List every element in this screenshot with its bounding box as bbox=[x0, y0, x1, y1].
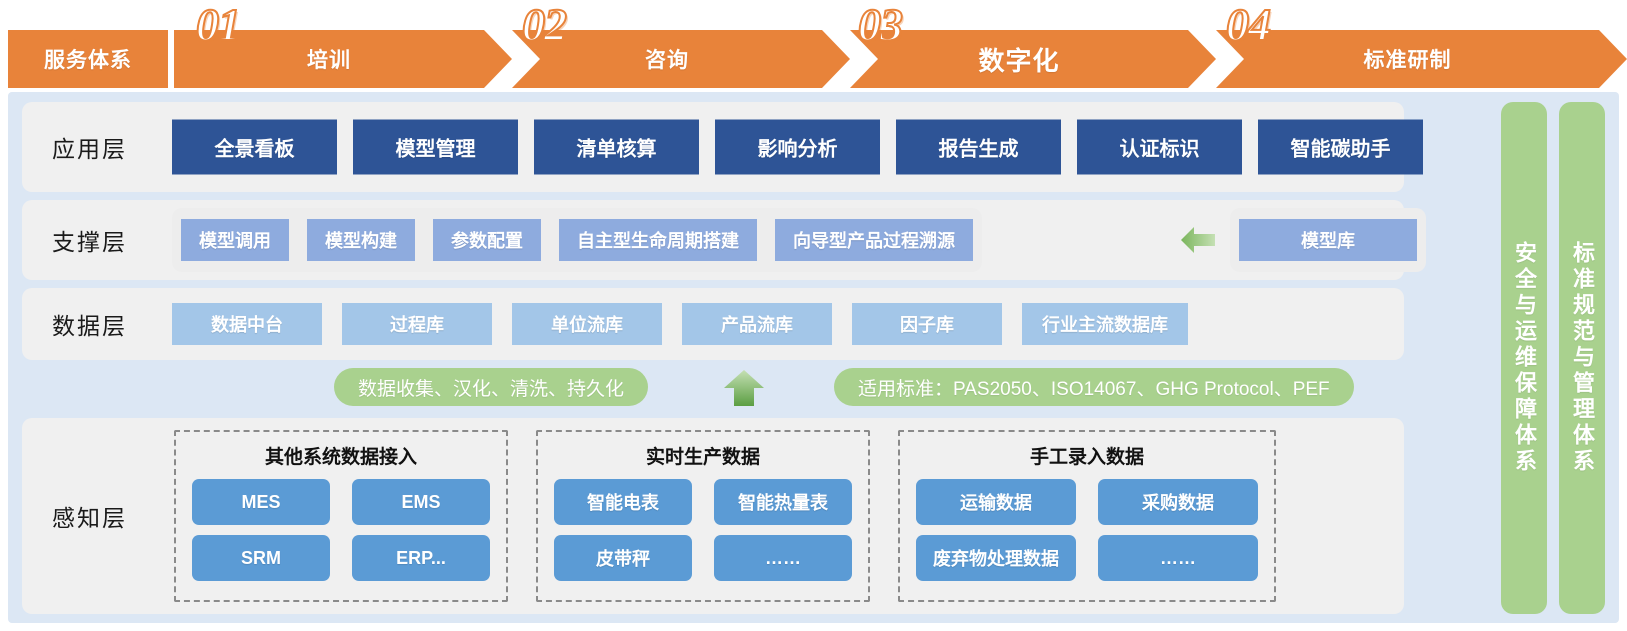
chevron-right-icon bbox=[822, 30, 850, 88]
banner-step-2-label: 咨询 bbox=[645, 44, 689, 74]
application-layer-row: 应用层 全景看板 模型管理 清单核算 影响分析 报告生成 认证标识 智能碳助手 bbox=[22, 102, 1404, 192]
banner-step-1-number: 01 bbox=[196, 2, 240, 48]
banner-step-4-label: 标准研制 bbox=[1364, 44, 1452, 74]
side-bar-standards-management: 标准规范与管理体系 bbox=[1559, 102, 1605, 614]
data-item-factor-library[interactable]: 因子库 bbox=[852, 303, 1002, 345]
sensing-group-realtime-production-grid: 智能电表 智能热量表 皮带秤 …… bbox=[554, 479, 852, 581]
sensing-groups: 其他系统数据接入 MES EMS SRM ERP... 实时生产数据 智能电表 … bbox=[174, 430, 1276, 602]
side-assurance-bars: 安全与运维保障体系 标准规范与管理体系 bbox=[1501, 102, 1605, 614]
sensing-item-more-manual[interactable]: …… bbox=[1098, 535, 1258, 581]
banner-step-4-number: 04 bbox=[1226, 2, 1270, 48]
application-layer-cells: 全景看板 模型管理 清单核算 影响分析 报告生成 认证标识 智能碳助手 bbox=[172, 120, 1439, 175]
data-layer-cells: 数据中台 过程库 单位流库 产品流库 因子库 行业主流数据库 bbox=[172, 303, 1208, 345]
support-item-autonomous-lifecycle[interactable]: 自主型生命周期搭建 bbox=[559, 219, 757, 261]
sensing-item-transport-data[interactable]: 运输数据 bbox=[916, 479, 1076, 525]
app-item-impact-analysis[interactable]: 影响分析 bbox=[715, 120, 880, 175]
sensing-item-procurement-data[interactable]: 采购数据 bbox=[1098, 479, 1258, 525]
sensing-layer-row: 感知层 其他系统数据接入 MES EMS SRM ERP... 实时生产数据 bbox=[22, 418, 1404, 614]
chevron-right-icon bbox=[1599, 30, 1627, 88]
data-item-unit-flow-library[interactable]: 单位流库 bbox=[512, 303, 662, 345]
architecture-diagram: 服务体系 培训 咨询 数字化 标准研制 01 02 bbox=[0, 0, 1627, 631]
banner-system-label-block: 服务体系 bbox=[8, 30, 168, 88]
banner-step-2-number: 02 bbox=[522, 2, 566, 48]
sensing-item-srm[interactable]: SRM bbox=[192, 535, 330, 581]
sensing-item-waste-data[interactable]: 废弃物处理数据 bbox=[916, 535, 1076, 581]
sensing-item-more-realtime[interactable]: …… bbox=[714, 535, 852, 581]
app-item-model-management[interactable]: 模型管理 bbox=[353, 120, 518, 175]
left-arrow-icon bbox=[1179, 221, 1217, 259]
platform-panel: 应用层 全景看板 模型管理 清单核算 影响分析 报告生成 认证标识 智能碳助手 … bbox=[8, 92, 1619, 623]
sensing-item-smart-heat-meter[interactable]: 智能热量表 bbox=[714, 479, 852, 525]
banner-step-1-label: 培训 bbox=[307, 44, 351, 74]
side-bar-security-ops: 安全与运维保障体系 bbox=[1501, 102, 1547, 614]
application-layer-label: 应用层 bbox=[52, 130, 127, 164]
sensing-group-other-systems-grid: MES EMS SRM ERP... bbox=[192, 479, 490, 581]
data-item-product-flow-library[interactable]: 产品流库 bbox=[682, 303, 832, 345]
support-item-guided-traceability[interactable]: 向导型产品过程溯源 bbox=[775, 219, 973, 261]
banner-step-3-label: 数字化 bbox=[978, 41, 1059, 78]
support-group-functions: 模型调用 模型构建 参数配置 自主型生命周期搭建 向导型产品过程溯源 bbox=[172, 208, 982, 272]
sensing-item-smart-meter[interactable]: 智能电表 bbox=[554, 479, 692, 525]
sensing-group-manual-entry: 手工录入数据 运输数据 采购数据 废弃物处理数据 …… bbox=[898, 430, 1276, 602]
support-item-model-invoke[interactable]: 模型调用 bbox=[181, 219, 289, 261]
app-item-smart-carbon-assistant[interactable]: 智能碳助手 bbox=[1258, 120, 1423, 175]
chevron-right-icon bbox=[484, 30, 512, 88]
sensing-layer-label: 感知层 bbox=[52, 499, 127, 533]
data-layer-label: 数据层 bbox=[52, 307, 127, 341]
sensing-group-manual-entry-grid: 运输数据 采购数据 废弃物处理数据 …… bbox=[916, 479, 1258, 581]
support-layer-label: 支撑层 bbox=[52, 223, 127, 257]
process-band: 数据收集、汉化、清洗、持久化 适用标准：PAS2050、ISO14067、GHG… bbox=[22, 368, 1404, 412]
process-banner: 服务体系 培训 咨询 数字化 标准研制 01 02 bbox=[0, 0, 1627, 88]
chevron-right-icon bbox=[1188, 30, 1216, 88]
band-pill-standards: 适用标准：PAS2050、ISO14067、GHG Protocol、PEF bbox=[834, 368, 1354, 406]
app-item-report-generation[interactable]: 报告生成 bbox=[896, 120, 1061, 175]
app-item-certification-label[interactable]: 认证标识 bbox=[1077, 120, 1242, 175]
support-layer-row: 支撑层 模型调用 模型构建 参数配置 自主型生命周期搭建 向导型产品过程溯源 bbox=[22, 200, 1404, 280]
banner-system-label: 服务体系 bbox=[44, 44, 132, 74]
sensing-item-belt-scale[interactable]: 皮带秤 bbox=[554, 535, 692, 581]
up-arrow-icon bbox=[722, 368, 766, 408]
banner-strip: 服务体系 培训 咨询 数字化 标准研制 01 02 bbox=[0, 30, 1627, 88]
sensing-group-manual-entry-title: 手工录入数据 bbox=[916, 442, 1258, 469]
sensing-group-realtime-production-title: 实时生产数据 bbox=[554, 442, 852, 469]
sensing-item-mes[interactable]: MES bbox=[192, 479, 330, 525]
data-item-industry-database[interactable]: 行业主流数据库 bbox=[1022, 303, 1188, 345]
support-group-library: 模型库 bbox=[1230, 208, 1426, 272]
sensing-group-other-systems-title: 其他系统数据接入 bbox=[192, 442, 490, 469]
sensing-item-erp[interactable]: ERP... bbox=[352, 535, 490, 581]
data-layer-row: 数据层 数据中台 过程库 单位流库 产品流库 因子库 行业主流数据库 bbox=[22, 288, 1404, 360]
data-item-process-library[interactable]: 过程库 bbox=[342, 303, 492, 345]
sensing-group-other-systems: 其他系统数据接入 MES EMS SRM ERP... bbox=[174, 430, 508, 602]
data-item-data-midplatform[interactable]: 数据中台 bbox=[172, 303, 322, 345]
banner-step-3-number: 03 bbox=[858, 2, 902, 48]
layer-stack: 应用层 全景看板 模型管理 清单核算 影响分析 报告生成 认证标识 智能碳助手 … bbox=[22, 102, 1404, 614]
support-item-model-build[interactable]: 模型构建 bbox=[307, 219, 415, 261]
app-item-panorama[interactable]: 全景看板 bbox=[172, 120, 337, 175]
app-item-inventory-accounting[interactable]: 清单核算 bbox=[534, 120, 699, 175]
support-item-parameter-config[interactable]: 参数配置 bbox=[433, 219, 541, 261]
support-item-model-library[interactable]: 模型库 bbox=[1239, 219, 1417, 261]
sensing-group-realtime-production: 实时生产数据 智能电表 智能热量表 皮带秤 …… bbox=[536, 430, 870, 602]
band-pill-data-pipeline: 数据收集、汉化、清洗、持久化 bbox=[334, 368, 648, 406]
sensing-item-ems[interactable]: EMS bbox=[352, 479, 490, 525]
banner-step-4[interactable]: 标准研制 bbox=[1216, 30, 1599, 88]
